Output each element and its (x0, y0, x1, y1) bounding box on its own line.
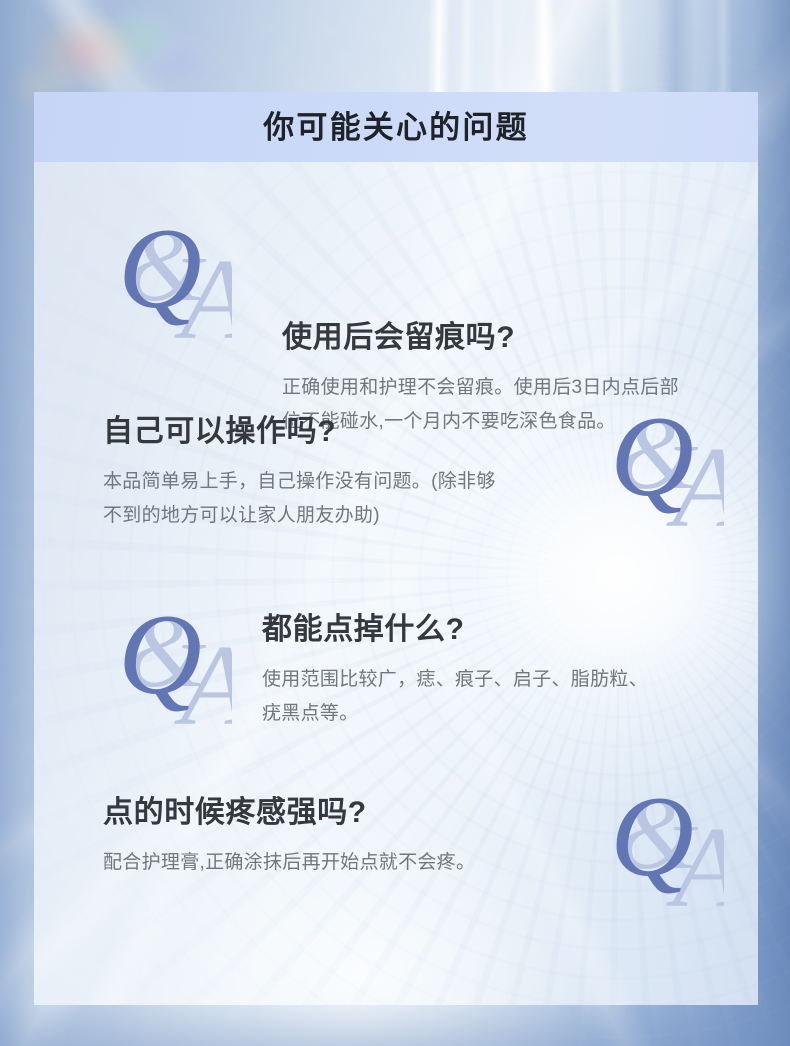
monogram-q-glyph: Q (118, 600, 202, 719)
faq-item: 都能点掉什么? 使用范围比较广，痣、痕子、启子、脂肪粒、 疣黑点等。 (262, 612, 648, 732)
monogram-a-glyph: A (666, 424, 724, 547)
page-root: 你可能关心的问题 & A Q 使用后会留痕吗? 正确使用和护理不会留痕。使用后3… (0, 0, 790, 1046)
monogram-amp-glyph: & (618, 782, 699, 891)
faq-answer: 配合护理膏,正确涂抹后再开始点就不会疼。 (103, 846, 475, 881)
monogram-amp-glyph: & (126, 214, 207, 323)
faq-answer-line: 正确使用和护理不会留痕。使用后3日内点后部 (282, 371, 679, 406)
monogram-a-glyph: A (666, 804, 724, 927)
faq-answer-line: 本品简单易上手，自己操作没有问题。(除非够 (103, 465, 496, 500)
faq-question: 点的时候疼感强吗? (103, 795, 475, 832)
faq-answer-line: 不到的地方可以让家人朋友办助) (103, 499, 496, 534)
faq-answer-line: 疣黑点等。 (262, 697, 648, 732)
monogram-q-glyph: Q (118, 214, 202, 333)
monogram-q-glyph: Q (610, 782, 694, 901)
page-title: 你可能关心的问题 (263, 112, 529, 143)
monogram-a-glyph: A (174, 236, 232, 359)
faq-answer: 使用范围比较广，痣、痕子、启子、脂肪粒、 疣黑点等。 (262, 663, 648, 732)
monogram-a-glyph: A (174, 622, 232, 745)
monogram-amp-glyph: & (126, 600, 207, 709)
qa-monogram: & A Q (604, 782, 724, 927)
faq-card: 你可能关心的问题 & A Q 使用后会留痕吗? 正确使用和护理不会留痕。使用后3… (34, 92, 758, 1005)
faq-header-band: 你可能关心的问题 (34, 92, 758, 162)
qa-monogram: & A Q (112, 214, 232, 359)
faq-item: 点的时候疼感强吗? 配合护理膏,正确涂抹后再开始点就不会疼。 (103, 795, 475, 880)
faq-question: 使用后会留痕吗? (282, 320, 679, 357)
faq-answer-line: 配合护理膏,正确涂抹后再开始点就不会疼。 (103, 846, 475, 881)
faq-question: 自己可以操作吗? (103, 414, 496, 451)
faq-item: 自己可以操作吗? 本品简单易上手，自己操作没有问题。(除非够 不到的地方可以让家… (103, 414, 496, 534)
faq-answer: 本品简单易上手，自己操作没有问题。(除非够 不到的地方可以让家人朋友办助) (103, 465, 496, 534)
faq-answer-line: 使用范围比较广，痣、痕子、启子、脂肪粒、 (262, 663, 648, 698)
faq-question: 都能点掉什么? (262, 612, 648, 649)
qa-monogram: & A Q (112, 600, 232, 745)
